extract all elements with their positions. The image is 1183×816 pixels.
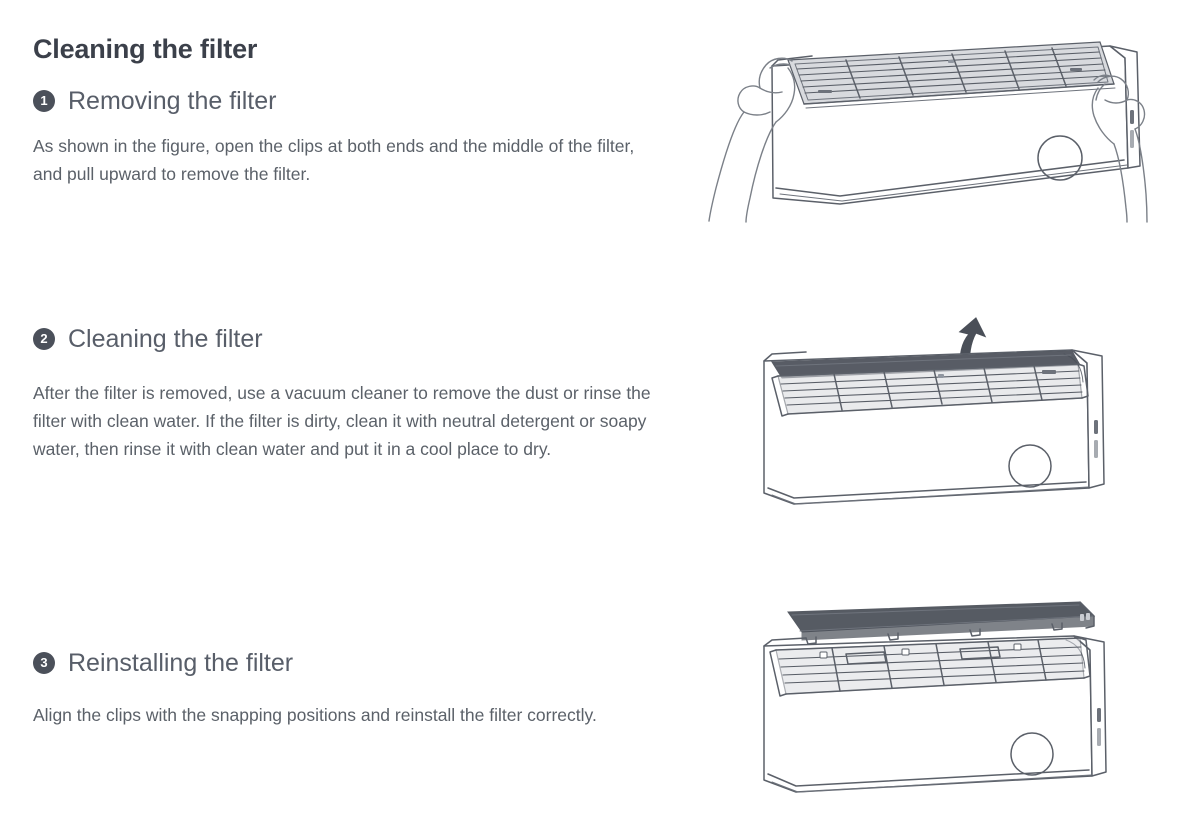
air-conditioner-filter-pull-up-arrow-illustration [742, 308, 1152, 513]
step-body-text: As shown in the figure, open the clips a… [33, 132, 663, 188]
step-title: Cleaning the filter [68, 324, 263, 354]
step-body-text: Align the clips with the snapping positi… [33, 701, 663, 729]
step-section-3: 3 Reinstalling the filter Align the clip… [33, 647, 673, 747]
step-section-2: 2 Cleaning the filter After the filter i… [33, 323, 673, 481]
step-heading-3: 3 Reinstalling the filter [33, 647, 673, 679]
page-title: Cleaning the filter [33, 32, 257, 66]
air-conditioner-filter-reinstall-illustration [742, 598, 1152, 803]
step-title: Removing the filter [68, 86, 276, 116]
step-heading-2: 2 Cleaning the filter [33, 323, 673, 355]
step-number-badge: 2 [33, 328, 55, 350]
step-number-badge: 3 [33, 652, 55, 674]
step-number-badge: 1 [33, 90, 55, 112]
step-section-1: 1 Removing the filter As shown in the fi… [33, 85, 673, 206]
step-heading-1: 1 Removing the filter [33, 85, 673, 117]
step-body-text: After the filter is removed, use a vacuu… [33, 379, 663, 463]
air-conditioner-hands-opening-filter-illustration [700, 38, 1170, 223]
manual-page: Cleaning the filter 1 Removing the filte… [0, 0, 1183, 816]
step-title: Reinstalling the filter [68, 648, 293, 678]
